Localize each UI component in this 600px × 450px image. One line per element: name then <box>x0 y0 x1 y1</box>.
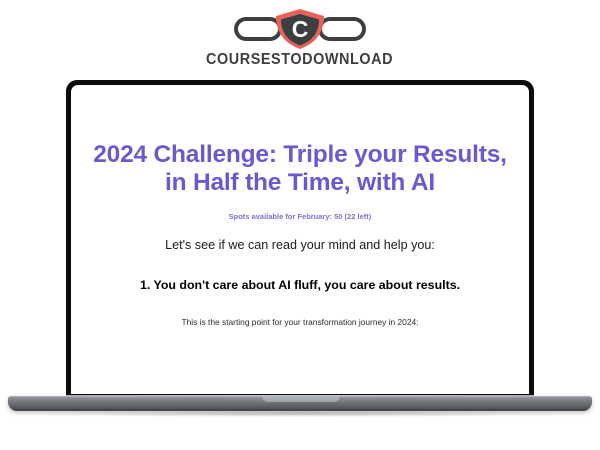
spots-availability-note: Spots available for February: 50 (22 lef… <box>71 212 529 221</box>
laptop-mockup: 2024 Challenge: Triple your Results, in … <box>0 0 600 450</box>
laptop-screen: 2024 Challenge: Triple your Results, in … <box>71 85 529 394</box>
bullet-point-one: 1. You don't care about AI fluff, you ca… <box>71 278 529 292</box>
closing-line: This is the starting point for your tran… <box>71 317 529 327</box>
lead-line: Let's see if we can read your mind and h… <box>71 238 529 252</box>
laptop-base-notch <box>262 396 340 402</box>
laptop-screen-bezel: 2024 Challenge: Triple your Results, in … <box>66 80 534 398</box>
page-headline: 2024 Challenge: Triple your Results, in … <box>71 85 529 198</box>
landing-page-content: 2024 Challenge: Triple your Results, in … <box>71 85 529 327</box>
laptop-drop-shadow <box>30 410 570 417</box>
